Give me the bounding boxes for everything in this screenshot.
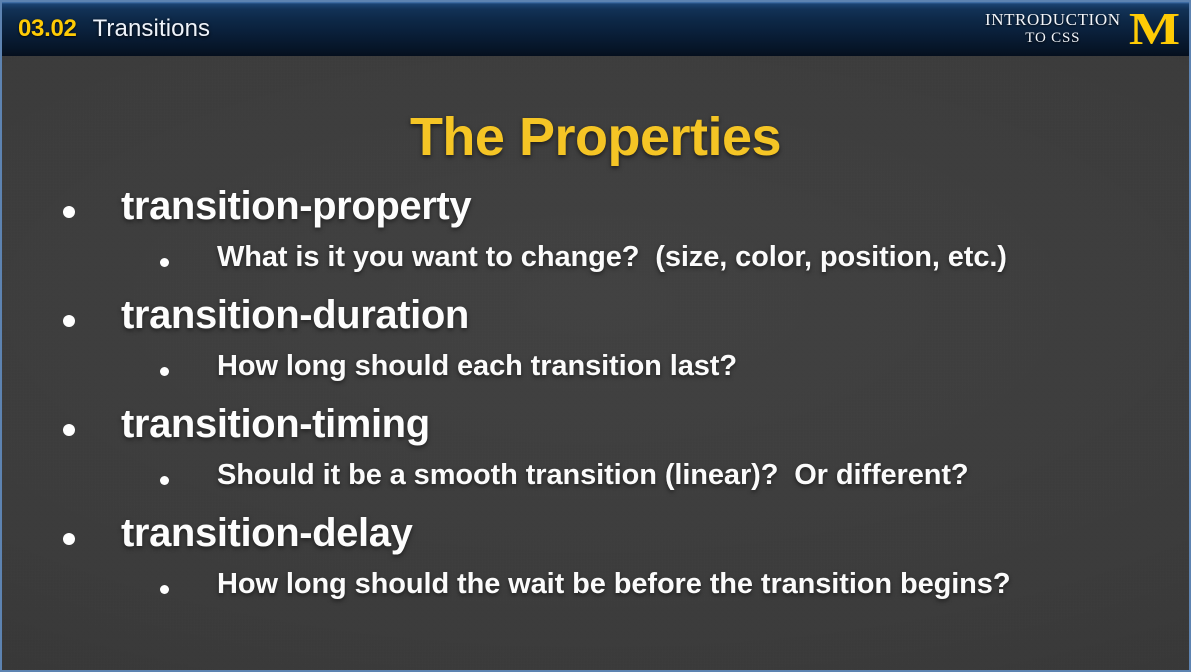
sub-bullet-label: How long should the wait be before the t… — [217, 568, 1010, 601]
sub-bullet-dot-icon — [160, 476, 169, 485]
slide-body: The Properties transition-property What … — [2, 56, 1189, 670]
sub-bullet-dot-icon — [160, 585, 169, 594]
bullet-item: transition-timing — [2, 405, 1189, 459]
sub-bullet-label: What is it you want to change? (size, co… — [217, 241, 1007, 274]
course-brand-line-2: TO CSS — [985, 29, 1121, 48]
bullet-label: transition-duration — [121, 293, 469, 338]
bullet-label: transition-delay — [121, 511, 412, 556]
header-lesson-label: 03.02 Transitions — [2, 15, 210, 43]
lesson-number: 03.02 — [18, 15, 77, 43]
sub-bullet-item: How long should each transition last? — [2, 350, 1189, 405]
header-branding: INTRODUCTION TO CSS M — [985, 2, 1179, 56]
bullet-list: transition-property What is it you want … — [2, 187, 1189, 623]
bullet-item: transition-duration — [2, 296, 1189, 350]
sub-bullet-dot-icon — [160, 367, 169, 376]
sub-bullet-item: How long should the wait be before the t… — [2, 568, 1189, 623]
bullet-dot-icon — [63, 533, 75, 545]
bullet-item: transition-delay — [2, 514, 1189, 568]
course-brand: INTRODUCTION TO CSS — [985, 10, 1121, 48]
presentation-slide: 03.02 Transitions INTRODUCTION TO CSS M … — [0, 0, 1191, 672]
bullet-dot-icon — [63, 315, 75, 327]
slide-title: The Properties — [2, 106, 1189, 168]
bullet-label: transition-timing — [121, 402, 430, 447]
bullet-label: transition-property — [121, 184, 471, 229]
lesson-title: Transitions — [93, 15, 211, 43]
bullet-group: transition-duration How long should each… — [2, 296, 1189, 405]
slide-header-bar: 03.02 Transitions INTRODUCTION TO CSS M — [2, 2, 1189, 56]
bullet-dot-icon — [63, 206, 75, 218]
bullet-item: transition-property — [2, 187, 1189, 241]
bullet-group: transition-timing Should it be a smooth … — [2, 405, 1189, 514]
sub-bullet-item: Should it be a smooth transition (linear… — [2, 459, 1189, 514]
bullet-dot-icon — [63, 424, 75, 436]
bullet-group: transition-property What is it you want … — [2, 187, 1189, 296]
sub-bullet-item: What is it you want to change? (size, co… — [2, 241, 1189, 296]
michigan-m-logo-icon: M — [1128, 9, 1183, 49]
sub-bullet-label: How long should each transition last? — [217, 350, 737, 383]
sub-bullet-dot-icon — [160, 258, 169, 267]
course-brand-line-1: INTRODUCTION — [985, 10, 1121, 29]
bullet-group: transition-delay How long should the wai… — [2, 514, 1189, 623]
sub-bullet-label: Should it be a smooth transition (linear… — [217, 459, 969, 492]
